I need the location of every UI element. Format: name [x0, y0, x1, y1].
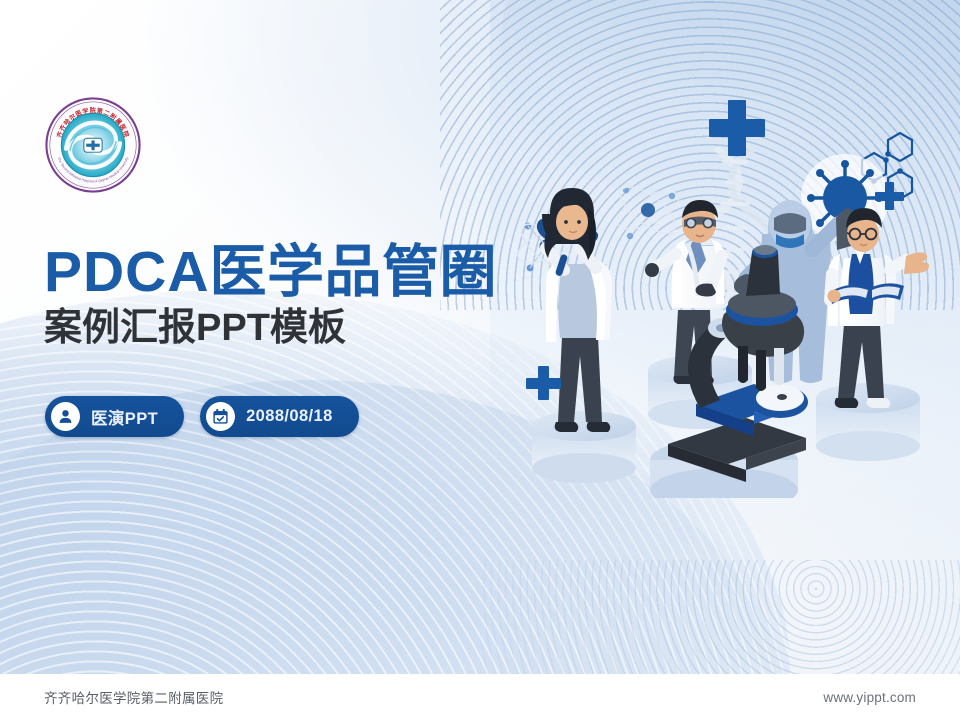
hospital-logo-alt: 齐齐哈尔医学院第二附属医院 院徽	[141, 97, 142, 98]
date-badge-label: 2088/08/18	[246, 407, 333, 426]
calendar-check-icon	[206, 402, 235, 431]
title-block: PDCA医学品管圈 案例汇报PPT模板	[44, 243, 564, 350]
meta-badges: 医演PPT 2088/08/18	[45, 396, 359, 437]
footer-website[interactable]: www.yippt.com	[823, 690, 916, 705]
author-badge[interactable]: 医演PPT	[45, 396, 184, 437]
molecule-atom-prop-2	[612, 179, 684, 242]
date-badge[interactable]: 2088/08/18	[200, 396, 359, 437]
hospital-logo: 齐齐哈尔医学院第二附属医院 The Second Affiliated Hosp…	[45, 97, 141, 193]
medical-science-team-illustration	[500, 78, 960, 498]
pedestal-scientist-1	[532, 411, 636, 483]
page-title: PDCA医学品管圈	[44, 243, 564, 302]
medical-cross-small-left	[526, 366, 561, 400]
slide-footer: 齐齐哈尔医学院第二附属医院 www.yippt.com	[0, 674, 960, 720]
ppt-cover-slide: 齐齐哈尔医学院第二附属医院 The Second Affiliated Hosp…	[0, 0, 960, 720]
author-badge-label: 医演PPT	[91, 405, 158, 429]
footer-organization: 齐齐哈尔医学院第二附属医院	[44, 687, 223, 707]
title-cjk: 医学品管圈	[210, 240, 498, 304]
person-icon	[51, 402, 80, 431]
page-subtitle: 案例汇报PPT模板	[44, 308, 564, 350]
title-latin: PDCA	[44, 240, 210, 304]
